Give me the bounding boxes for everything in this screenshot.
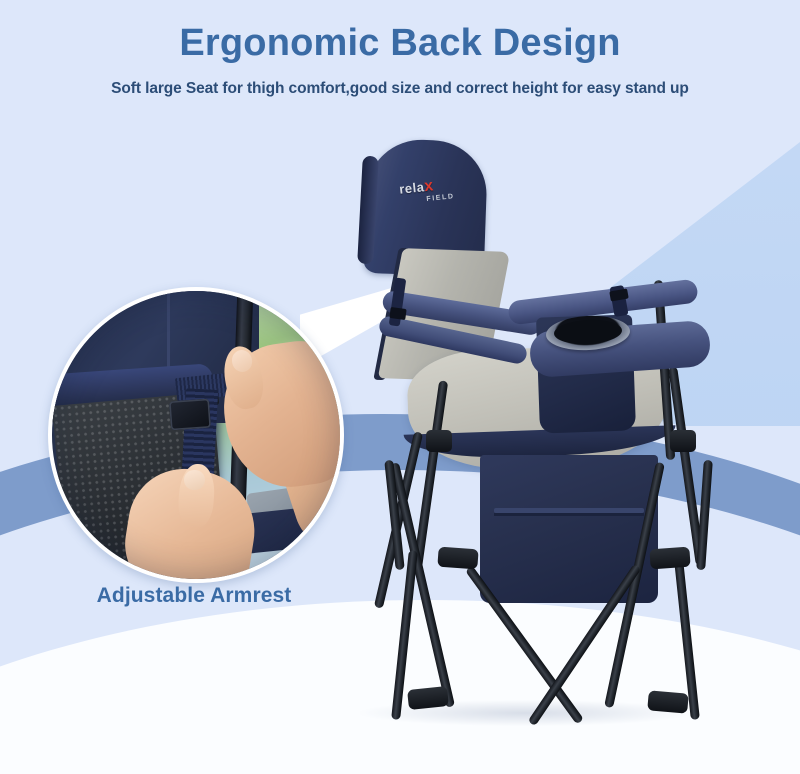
strap-buckle	[169, 399, 211, 431]
armrest-closeup-photo	[52, 291, 340, 579]
armrest-left-buckle	[389, 307, 406, 320]
page-title: Ergonomic Back Design	[0, 24, 800, 64]
feature-detail-circle	[48, 287, 344, 583]
chair-foot-rear-right	[649, 547, 690, 570]
frame-joint-left	[426, 430, 452, 452]
frame-joint-right	[670, 430, 696, 452]
brand-logo-word: rela	[399, 179, 426, 197]
fingernail-lower	[184, 470, 204, 490]
product-feature-banner: Ergonomic Back Design Soft large Seat fo…	[0, 0, 800, 774]
banner-header: Ergonomic Back Design Soft large Seat fo…	[0, 0, 800, 98]
chair-foot-rear-left	[437, 547, 478, 570]
camping-chair-product: relax FIELD	[330, 130, 760, 740]
page-subtitle: Soft large Seat for thigh comfort,good s…	[0, 80, 800, 98]
brand-logo-x: x	[423, 177, 434, 195]
chair-foot-front-left	[407, 686, 449, 710]
cooler-pouch-seam	[494, 513, 644, 516]
feature-caption: Adjustable Armrest	[34, 584, 354, 608]
chair-foot-front-right	[647, 690, 689, 713]
frame-tube-right-brace	[696, 460, 713, 570]
